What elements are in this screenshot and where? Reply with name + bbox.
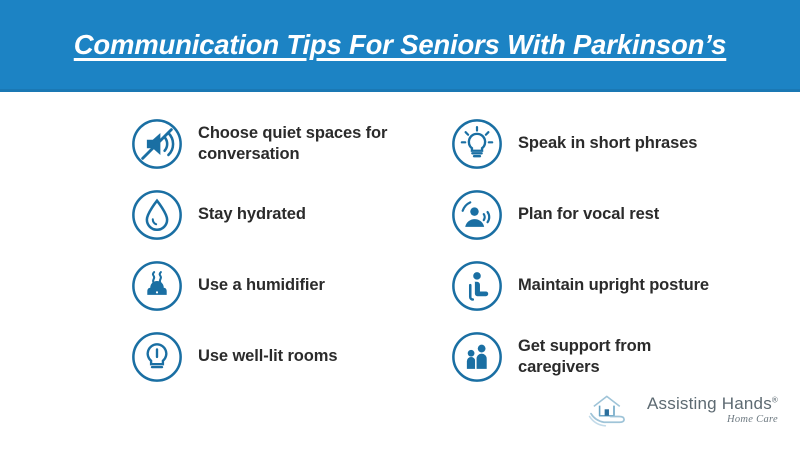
infographic-canvas: Communication Tips For Seniors With Park… — [0, 0, 800, 450]
light-bulb-rays-icon — [450, 117, 504, 171]
tip-item: Stay hydrated — [130, 179, 430, 250]
page-title: Communication Tips For Seniors With Park… — [74, 29, 727, 61]
logo-tagline: Home Care — [727, 415, 778, 426]
brand-logo: Assisting Hands® Home Care — [588, 392, 778, 428]
logo-text: Assisting Hands® Home Care — [647, 395, 778, 426]
logo-name-text: Assisting Hands — [647, 394, 772, 413]
person-speaking-icon — [450, 188, 504, 242]
header-banner: Communication Tips For Seniors With Park… — [0, 0, 800, 92]
tip-label: Speak in short phrases — [518, 133, 697, 153]
tips-grid: Choose quiet spaces for conversation Spe… — [0, 92, 800, 392]
muted-speaker-icon — [130, 117, 184, 171]
light-bulb-icon — [130, 330, 184, 384]
tip-label: Plan for vocal rest — [518, 204, 659, 224]
tip-label: Get support from caregivers — [518, 336, 723, 376]
tip-label: Maintain upright posture — [518, 275, 709, 295]
house-in-hand-icon — [588, 392, 640, 428]
tip-label: Use well-lit rooms — [198, 346, 337, 366]
tip-item: Speak in short phrases — [450, 108, 750, 179]
tip-item: Use well-lit rooms — [130, 321, 430, 392]
tip-item: Use a humidifier — [130, 250, 430, 321]
tip-label: Stay hydrated — [198, 204, 306, 224]
tip-item: Get support from caregivers — [450, 321, 750, 392]
humidifier-icon — [130, 259, 184, 313]
tip-item: Plan for vocal rest — [450, 179, 750, 250]
tip-label: Use a humidifier — [198, 275, 325, 295]
seated-posture-icon — [450, 259, 504, 313]
registered-mark: ® — [772, 395, 778, 404]
tip-item: Choose quiet spaces for conversation — [130, 108, 430, 179]
logo-name: Assisting Hands® — [647, 395, 778, 412]
tip-item: Maintain upright posture — [450, 250, 750, 321]
two-people-icon — [450, 330, 504, 384]
water-droplet-icon — [130, 188, 184, 242]
tip-label: Choose quiet spaces for conversation — [198, 123, 403, 163]
